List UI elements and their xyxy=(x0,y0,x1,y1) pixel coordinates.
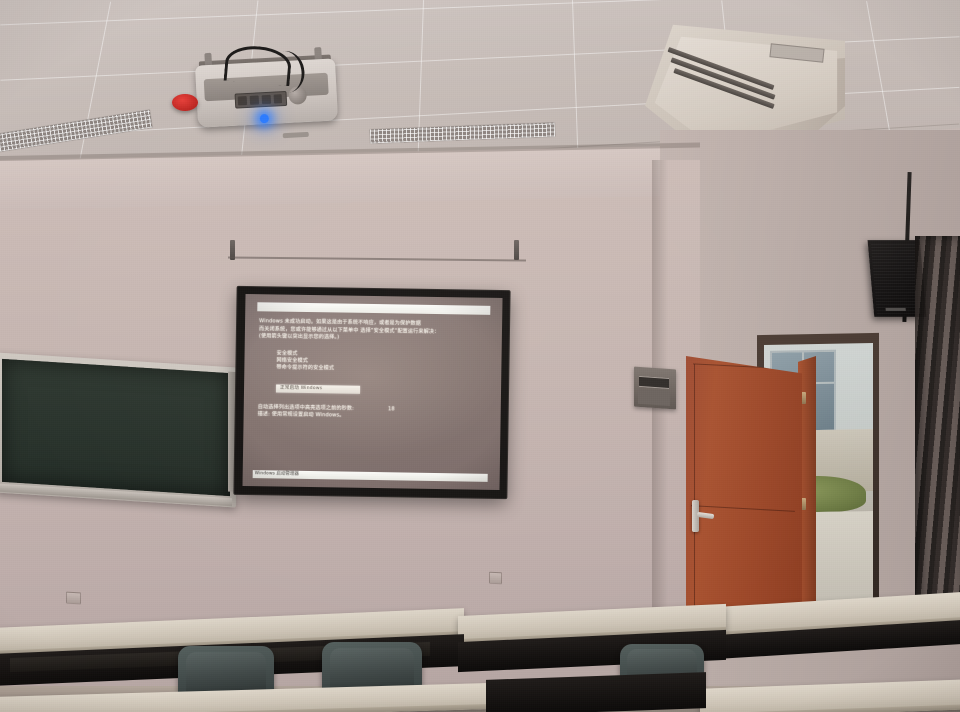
boot-description-text: 使用常规设置启动 Windows。 xyxy=(272,412,345,419)
aisle-shadow xyxy=(486,672,706,712)
speaker-badge xyxy=(886,308,906,311)
panel-slot xyxy=(639,376,669,389)
window-curtain[interactable] xyxy=(915,236,960,636)
boot-footer: 自动选择列出选项中高亮选项之前的秒数:18 描述: 使用常规设置启动 Windo… xyxy=(258,404,395,421)
blackboard-surface xyxy=(2,359,230,496)
boot-text-block: Windows 未成功启动。如果这是由于系统不响应，或者是为保护数据 而关闭系统… xyxy=(257,318,488,466)
panel-lower-face xyxy=(638,389,670,406)
projected-image: Windows 未成功启动。如果这是由于系统不响应，或者是为保护数据 而关闭系统… xyxy=(243,294,503,490)
boot-options-list: 安全模式 网络安全模式 带命令提示符的安全模式 xyxy=(276,350,487,375)
wall-outlet[interactable] xyxy=(489,572,502,585)
screen-wall-bracket xyxy=(514,240,519,260)
classroom-photo: Windows 未成功启动。如果这是由于系统不响应，或者是为保护数据 而关闭系统… xyxy=(0,0,960,712)
ceiling-projector xyxy=(194,38,338,127)
av-control-panel[interactable] xyxy=(634,367,676,410)
boot-option-normal-start: 正常启动 Windows xyxy=(280,385,322,394)
screen-mount-assembly xyxy=(228,240,528,262)
boot-top-bar xyxy=(257,302,490,315)
boot-status-bar: Windows 启动管理器 xyxy=(253,470,488,482)
boot-description-label: 描述: xyxy=(258,411,270,417)
boot-countdown-seconds: 18 xyxy=(388,406,395,412)
boot-status-bar-text: Windows 启动管理器 xyxy=(255,470,299,479)
wall-outlet[interactable] xyxy=(66,592,81,605)
blackboard xyxy=(0,352,236,507)
projection-screen[interactable]: Windows 未成功启动。如果这是由于系统不响应，或者是为保护数据 而关闭系统… xyxy=(234,287,509,498)
smoke-detector-icon xyxy=(172,94,198,111)
supply-air-grille-icon xyxy=(370,122,555,143)
return-air-grille-icon xyxy=(0,110,152,152)
boot-option-selected-highlight[interactable]: 正常启动 Windows xyxy=(276,384,360,393)
projector-power-led xyxy=(260,114,269,123)
